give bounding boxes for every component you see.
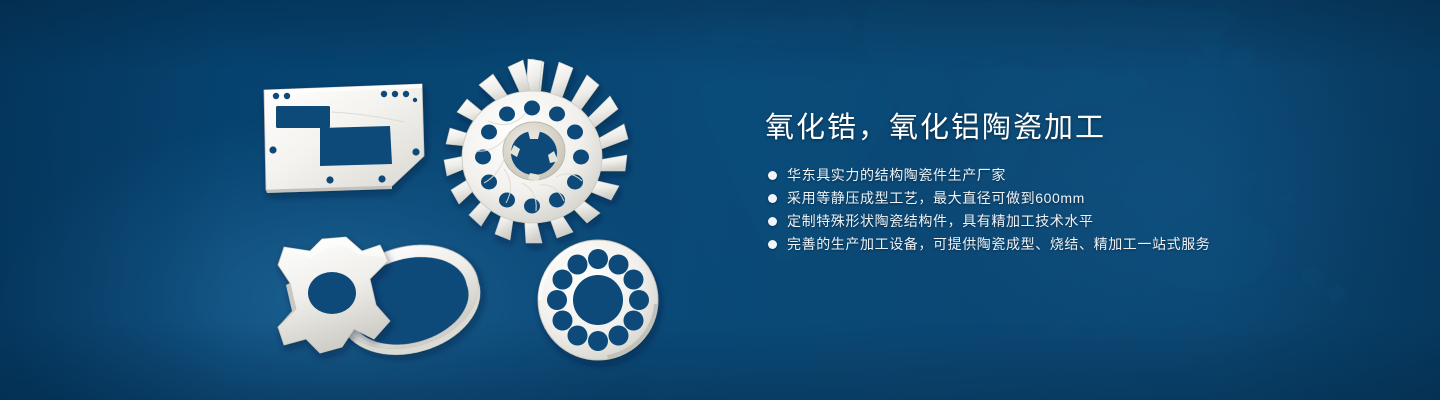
banner-copy: 氧化锆，氧化铝陶瓷加工 华东具实力的结构陶瓷件生产厂家 采用等静压成型工艺，最大…	[765, 108, 1325, 256]
bullet-dot-icon	[768, 217, 777, 226]
feature-text: 采用等静压成型工艺，最大直径可做到600mm	[787, 187, 1085, 209]
ceramic-plate-part	[264, 84, 424, 193]
bullet-dot-icon	[768, 194, 777, 203]
list-item: 华东具实力的结构陶瓷件生产厂家	[765, 164, 1325, 186]
bullet-dot-icon	[768, 171, 777, 180]
ceramic-products-image	[240, 52, 680, 382]
ceramic-impeller-part	[444, 59, 628, 243]
bullet-dot-icon	[768, 240, 777, 249]
list-item: 完善的生产加工设备，可提供陶瓷成型、烧结、精加工一站式服务	[765, 233, 1325, 255]
list-item: 采用等静压成型工艺，最大直径可做到600mm	[765, 187, 1325, 209]
ceramic-processing-banner: 氧化锆，氧化铝陶瓷加工 华东具实力的结构陶瓷件生产厂家 采用等静压成型工艺，最大…	[0, 0, 1440, 400]
feature-text: 定制特殊形状陶瓷结构件，具有精加工技术水平	[787, 210, 1094, 232]
feature-text: 完善的生产加工设备，可提供陶瓷成型、烧结、精加工一站式服务	[787, 233, 1210, 255]
page-title: 氧化锆，氧化铝陶瓷加工	[765, 108, 1325, 148]
ceramic-cross-part	[276, 237, 390, 353]
list-item: 定制特殊形状陶瓷结构件，具有精加工技术水平	[765, 210, 1325, 232]
ceramic-perforated-disc-part	[538, 240, 658, 360]
feature-list: 华东具实力的结构陶瓷件生产厂家 采用等静压成型工艺，最大直径可做到600mm 定…	[765, 164, 1325, 255]
feature-text: 华东具实力的结构陶瓷件生产厂家	[787, 164, 1006, 186]
